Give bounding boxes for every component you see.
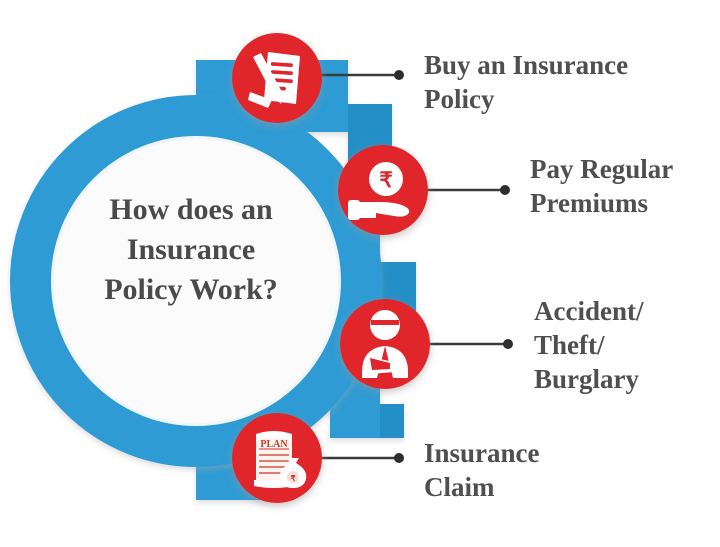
connector-dot-outer-4: [394, 453, 404, 463]
step-badge-4[interactable]: PLAN ₹: [232, 413, 322, 503]
rupee-glyph: ₹: [379, 169, 392, 192]
step-badge-2[interactable]: ₹: [338, 145, 428, 235]
step-badge-1[interactable]: [232, 33, 322, 123]
step-badge-3[interactable]: [340, 299, 430, 389]
center-heading-line-1: How does an: [62, 190, 320, 230]
step-label-1: Buy an Insurance Policy: [424, 48, 628, 116]
step-label-3-line-1: Accident/: [534, 294, 643, 328]
connector-dot-outer-1: [394, 70, 404, 80]
step-label-2-line-1: Pay Regular: [530, 152, 673, 186]
step-label-4: Insurance Claim: [424, 436, 540, 504]
step-label-3-line-3: Burglary: [534, 362, 643, 396]
money-bag-rupee-glyph: ₹: [290, 474, 295, 483]
center-heading: How does an Insurance Policy Work?: [62, 190, 320, 310]
step-label-1-line-2: Policy: [424, 82, 628, 116]
plan-label: PLAN: [260, 439, 288, 450]
connector-dot-outer-2: [500, 185, 510, 195]
center-heading-line-2: Insurance: [62, 230, 320, 270]
shade-3: [380, 404, 404, 438]
step-label-4-line-2: Claim: [424, 470, 540, 504]
step-label-2: Pay Regular Premiums: [530, 152, 673, 220]
connector-dot-outer-3: [503, 339, 513, 349]
step-label-4-line-1: Insurance: [424, 436, 540, 470]
step-label-2-line-2: Premiums: [530, 186, 673, 220]
infographic-root: ₹: [0, 0, 720, 547]
step-label-3: Accident/ Theft/ Burglary: [534, 294, 643, 396]
step-label-1-line-1: Buy an Insurance: [424, 48, 628, 82]
center-heading-line-3: Policy Work?: [62, 270, 320, 310]
diagram-stage: ₹: [0, 0, 720, 547]
step-label-3-line-2: Theft/: [534, 328, 643, 362]
